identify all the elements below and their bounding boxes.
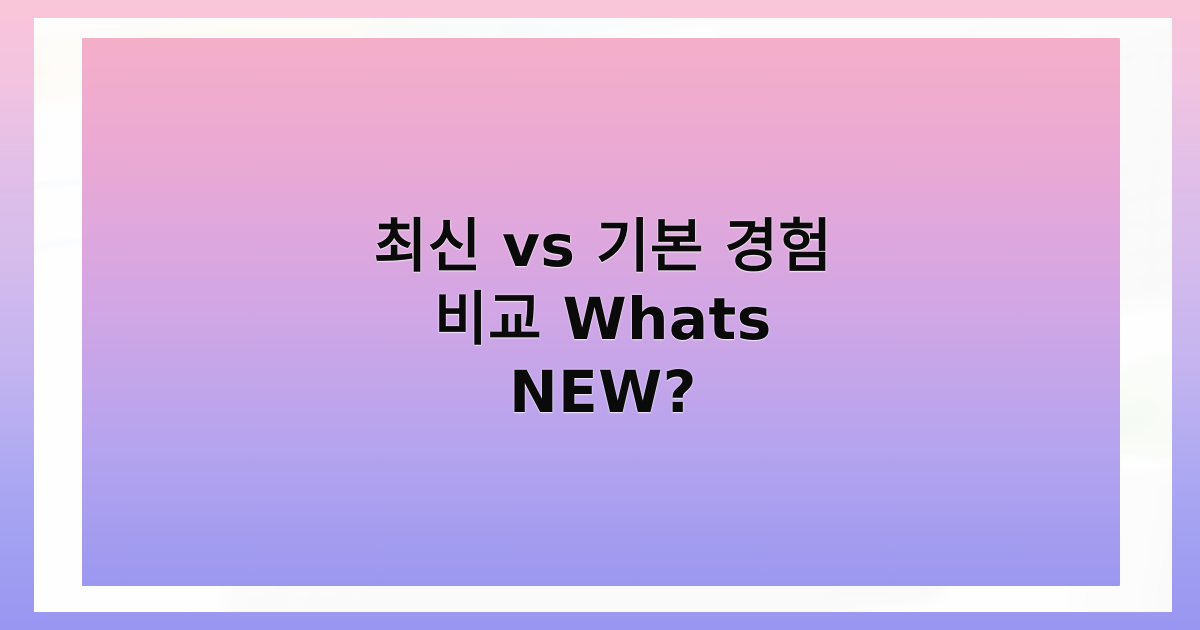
poster-canvas: 최신 vs 기본 경험 비교 Whats NEW? (0, 0, 1200, 630)
headline-block: 최신 vs 기본 경험 비교 Whats NEW? (34, 18, 1172, 612)
headline-line-2: 비교 Whats (434, 283, 772, 356)
headline-line-1: 최신 vs 기본 경험 (374, 210, 833, 283)
headline-line-3: NEW? (509, 356, 697, 429)
poster-card: 최신 vs 기본 경험 비교 Whats NEW? (34, 18, 1172, 612)
